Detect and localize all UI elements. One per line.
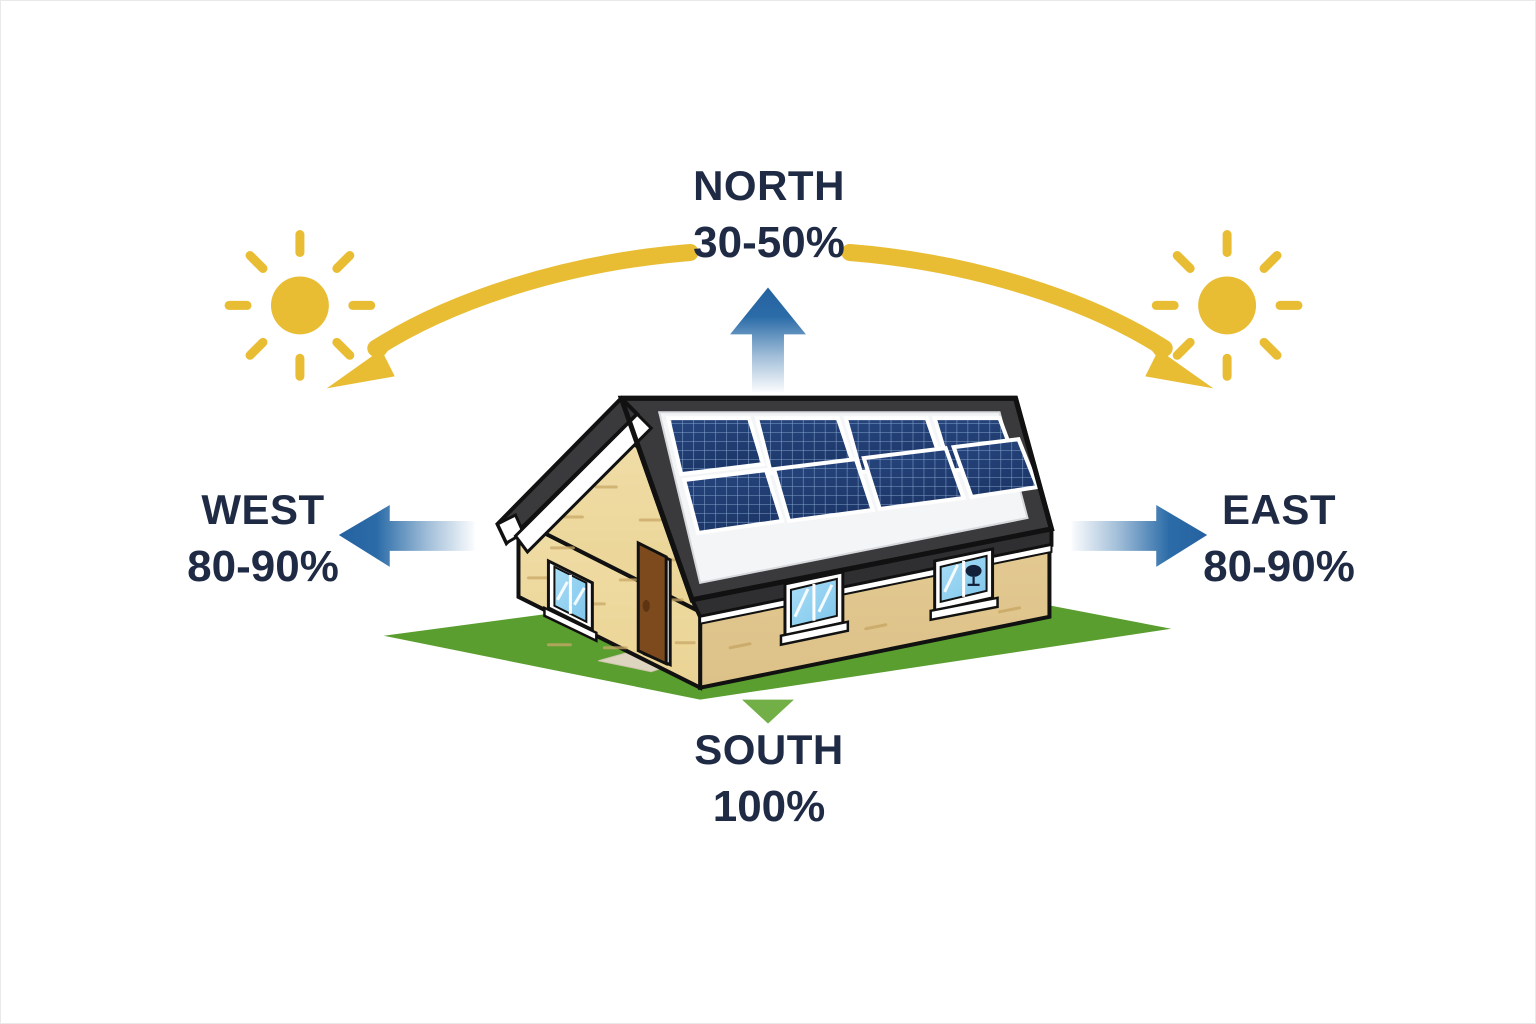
solar-orientation-diagram: NORTH 30-50% EAST 80-90% SOUTH 100% WEST… [0,0,1536,1024]
door[interactable] [638,543,670,665]
arrow-up-icon [730,287,806,392]
door-knob-icon [643,600,650,612]
window-side-right [931,549,998,620]
arrow-down-icon [742,700,794,724]
direction-name-east: EAST [1109,489,1449,531]
direction-label-north: NORTH 30-50% [569,165,969,265]
direction-name-north: NORTH [569,165,969,207]
direction-value-north: 30-50% [569,221,969,265]
solar-panel [864,448,964,509]
direction-name-south: SOUTH [569,729,969,771]
sun-icon-right [1156,235,1298,377]
direction-name-west: WEST [93,489,433,531]
sun-path-arc-arrow-left [327,253,690,389]
direction-value-west: 80-90% [93,545,433,589]
direction-label-south: SOUTH 100% [569,729,969,829]
direction-value-east: 80-90% [1109,545,1449,589]
direction-label-west: WEST 80-90% [93,489,433,589]
direction-value-south: 100% [569,785,969,829]
window-side-left [781,572,848,645]
direction-label-east: EAST 80-90% [1109,489,1449,589]
sun-icon-left [229,235,371,377]
sun-path-arc-arrow-right [850,253,1213,389]
solar-panel [774,459,873,521]
solar-panel [684,470,782,533]
solar-panel [668,418,763,474]
